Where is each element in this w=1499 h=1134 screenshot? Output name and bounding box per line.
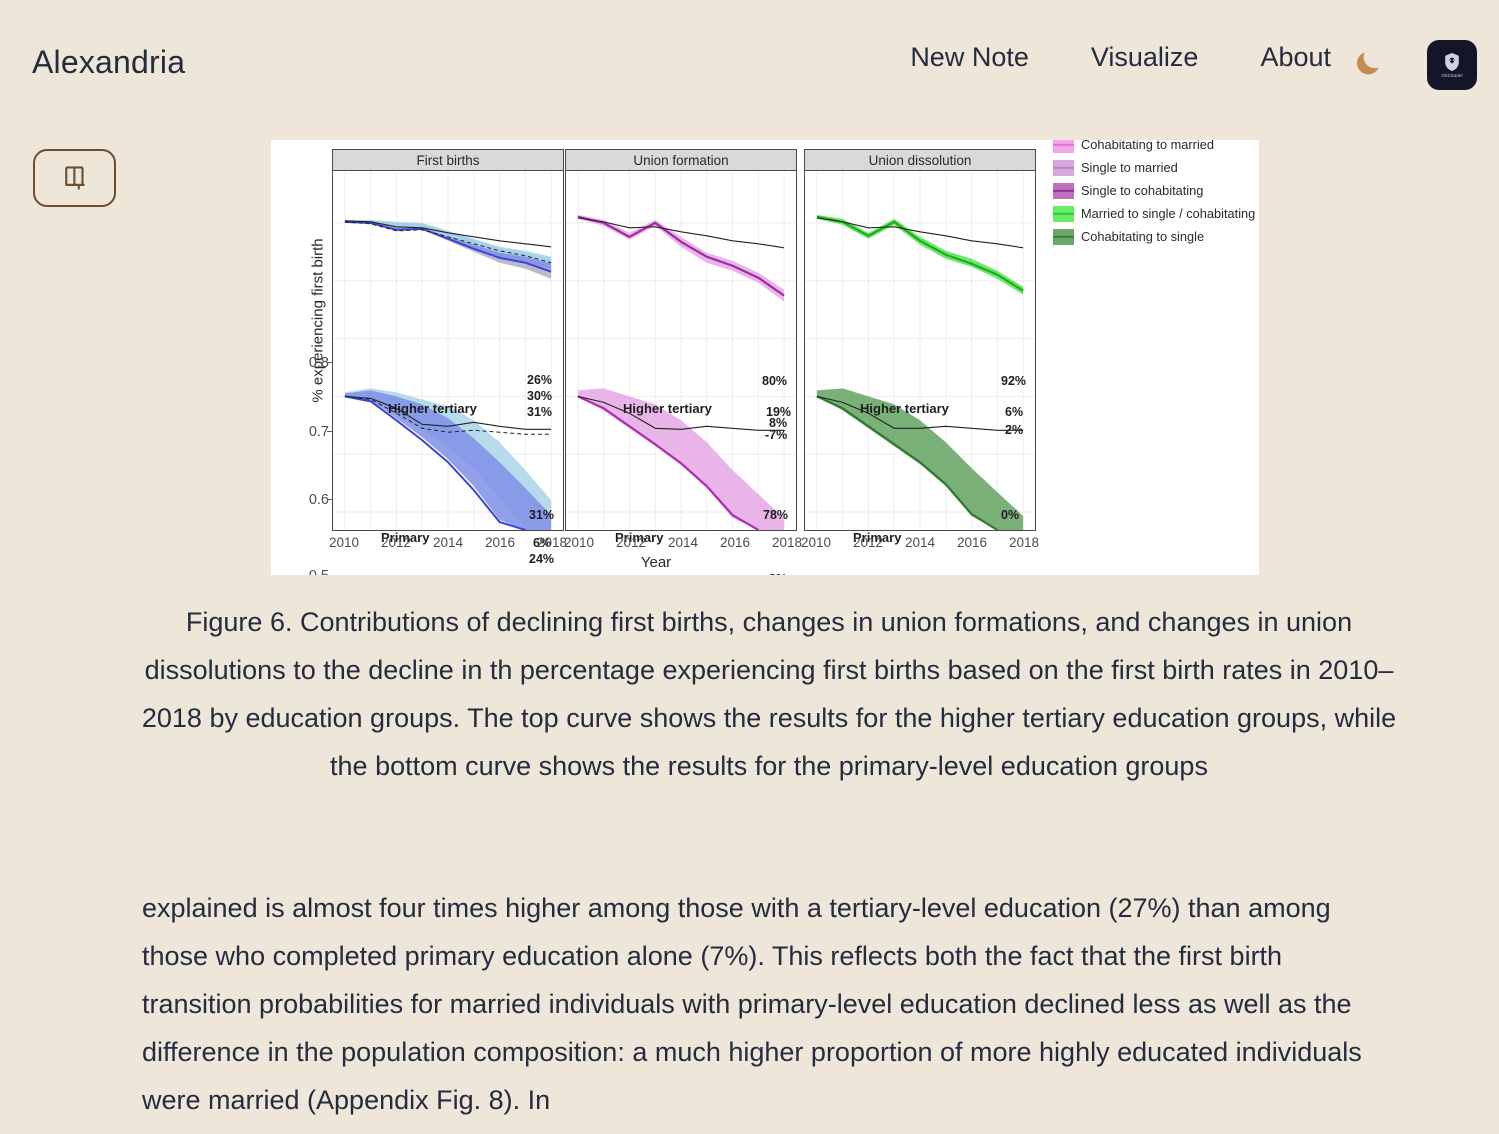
union-formation-plot xyxy=(566,171,796,530)
legend-swatch-cohabitating-to-single xyxy=(1053,229,1074,245)
panel-union-formation: Union formation xyxy=(565,149,797,531)
main-nav: New Note Visualize About xyxy=(910,42,1331,73)
group-label-tertiary-p3: Higher tertiary xyxy=(860,401,949,416)
moon-icon xyxy=(1353,48,1383,78)
top-navigation-bar: Alexandria New Note Visualize About GitC… xyxy=(0,0,1499,128)
legend-item-cohabitating-to-married: Cohabitating to married xyxy=(1053,140,1253,156)
x-tick-p2-2010: 2010 xyxy=(552,535,606,550)
annotation-p2-t-3: -7% xyxy=(765,428,787,442)
legend-label-single-to-married: Single to married xyxy=(1081,160,1178,175)
annotation-p1-t-1: 30% xyxy=(527,389,552,403)
x-tick-p2-2016: 2016 xyxy=(708,535,762,550)
legend-swatch-single-to-married xyxy=(1053,160,1074,176)
group-label-tertiary-p2: Higher tertiary xyxy=(623,401,712,416)
legend-label-single-to-cohabitating: Single to cohabitating xyxy=(1081,183,1203,198)
nav-item-visualize[interactable]: Visualize xyxy=(1091,42,1199,73)
legend-item-single-to-married: Single to married xyxy=(1053,156,1253,179)
theme-toggle-button[interactable] xyxy=(1345,40,1391,86)
legend-label-cohabitating-to-single: Cohabitating to single xyxy=(1081,229,1204,244)
y-axis-ticks-rest: 0.6 0.5 0.4 xyxy=(271,140,329,575)
x-tick-p3-2014: 2014 xyxy=(893,535,947,550)
x-tick-p1-2016: 2016 xyxy=(473,535,527,550)
x-tick-p1-2012: 2012 xyxy=(369,535,423,550)
legend-label-cohabitating-to-married: Cohabitating to married xyxy=(1081,140,1214,152)
app-brand-title[interactable]: Alexandria xyxy=(32,44,185,81)
x-tick-p2-2012: 2012 xyxy=(604,535,658,550)
annotation-p2-p-1: 2% xyxy=(769,572,787,575)
legend-item-married-to-single-cohabitating: Married to single / cohabitating xyxy=(1053,202,1253,225)
legend-swatch-single-to-cohabitating xyxy=(1053,183,1074,199)
annotation-p1-t-0: 26% xyxy=(527,373,552,387)
legend-swatch-married-to-single-cohabitating xyxy=(1053,206,1074,222)
panel-title-first-births: First births xyxy=(333,150,563,171)
legend-label-married-to-single-cohabitating: Married to single / cohabitating xyxy=(1081,206,1255,221)
panel-first-births: First births xyxy=(332,149,564,531)
y-tick-0.6: 0.6 xyxy=(287,492,329,508)
x-tick-p3-2018: 2018 xyxy=(997,535,1051,550)
legend-swatch-cohabitating-to-married xyxy=(1053,140,1074,153)
shield-logo-icon xyxy=(1441,51,1463,73)
annotation-p3-t-2: 2% xyxy=(1005,423,1023,437)
annotation-p2-t-0: 80% xyxy=(762,374,787,388)
book-icon xyxy=(60,163,90,193)
figure-image: % experiencing first birth 0.8 0.7 x x 0… xyxy=(271,140,1259,575)
figure-caption: Figure 6. Contributions of declining fir… xyxy=(140,598,1398,790)
annotation-p1-p-0: 31% xyxy=(529,508,554,522)
x-tick-p1-2014: 2014 xyxy=(421,535,475,550)
x-tick-p3-2016: 2016 xyxy=(945,535,999,550)
nav-item-about[interactable]: About xyxy=(1260,42,1331,73)
x-axis-tick-row: 2010 2012 2014 2016 2018 2010 2012 2014 … xyxy=(271,535,1259,555)
legend-item-single-to-cohabitating: Single to cohabitating xyxy=(1053,179,1253,202)
gitcitadel-badge[interactable]: GitCitadel xyxy=(1427,40,1477,90)
x-tick-p2-2014: 2014 xyxy=(656,535,710,550)
annotation-p3-t-0: 92% xyxy=(1001,374,1026,388)
library-sidebar-toggle-button[interactable] xyxy=(33,149,116,207)
nav-item-new-note[interactable]: New Note xyxy=(910,42,1029,73)
chart-legend: Cohabitating to married Single to marrie… xyxy=(1053,140,1253,248)
x-tick-p3-2012: 2012 xyxy=(841,535,895,550)
panel-title-union-formation: Union formation xyxy=(566,150,796,171)
legend-item-cohabitating-to-single: Cohabitating to single xyxy=(1053,225,1253,248)
annotation-p2-p-0: 78% xyxy=(763,508,788,522)
x-tick-p1-2010: 2010 xyxy=(317,535,371,550)
x-tick-p3-2010: 2010 xyxy=(789,535,843,550)
annotation-p3-t-1: 6% xyxy=(1005,405,1023,419)
x-axis-title: Year xyxy=(271,554,1041,571)
annotation-p1-t-2: 31% xyxy=(527,405,552,419)
body-paragraph: explained is almost four times higher am… xyxy=(142,884,1396,1124)
plot-area: % experiencing first birth 0.8 0.7 x x 0… xyxy=(271,140,1259,575)
panel-title-union-dissolution: Union dissolution xyxy=(805,150,1035,171)
badge-label: GitCitadel xyxy=(1441,74,1462,79)
group-label-tertiary-p1: Higher tertiary xyxy=(388,401,477,416)
panel-union-dissolution: Union dissolution xyxy=(804,149,1036,531)
first-births-plot xyxy=(333,171,563,530)
union-dissolution-plot xyxy=(805,171,1035,530)
annotation-p3-p-0: 0% xyxy=(1001,508,1019,522)
